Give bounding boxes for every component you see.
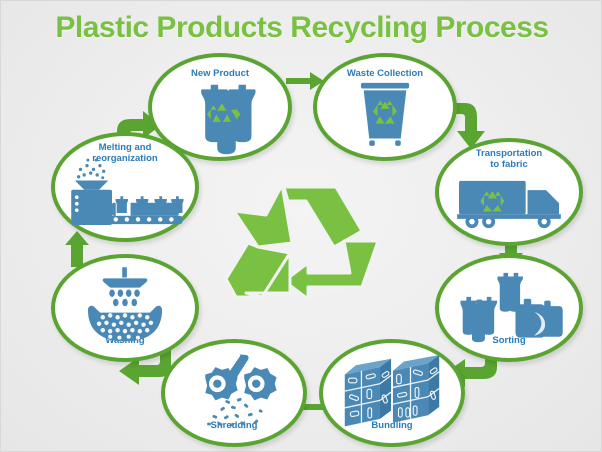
recycle-bin-icon bbox=[317, 57, 453, 157]
node-waste-collection[interactable]: Waste Collection bbox=[313, 53, 457, 161]
infographic-canvas: Plastic Products Recycling Process bbox=[0, 0, 602, 452]
page-title: Plastic Products Recycling Process bbox=[1, 11, 602, 45]
washing-basin-icon bbox=[55, 258, 195, 358]
extruder-conveyor-icon bbox=[55, 136, 195, 238]
node-melting[interactable]: Melting and reorganization bbox=[51, 132, 199, 242]
plastic-bales-icon bbox=[323, 343, 461, 443]
node-washing[interactable]: Washing bbox=[51, 254, 199, 362]
node-bundling[interactable]: Bundling bbox=[319, 339, 465, 447]
shredder-gears-icon bbox=[165, 343, 303, 443]
node-transportation[interactable]: Transportation to fabric bbox=[435, 138, 583, 246]
recycling-symbol-icon bbox=[222, 169, 382, 321]
delivery-truck-icon bbox=[439, 142, 579, 242]
